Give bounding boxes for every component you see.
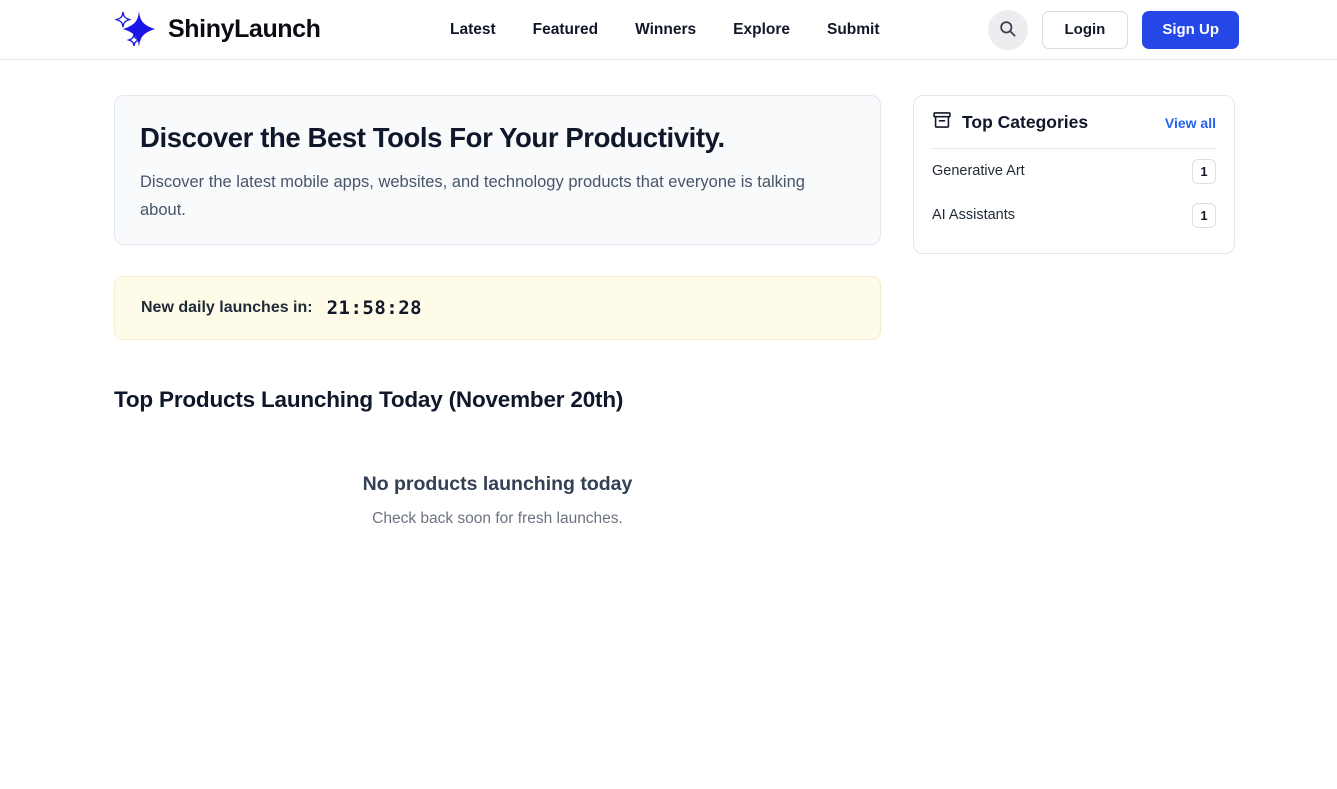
page-body: Discover the Best Tools For Your Product… xyxy=(0,60,1337,789)
site-header: ShinyLaunch Latest Featured Winners Expl… xyxy=(0,0,1337,60)
hero-subtitle: Discover the latest mobile apps, website… xyxy=(140,168,830,224)
category-count-badge: 1 xyxy=(1192,203,1216,228)
nav-item-latest[interactable]: Latest xyxy=(450,21,496,39)
search-icon xyxy=(998,19,1017,41)
top-categories-title: Top Categories xyxy=(962,112,1088,133)
hero-banner: Discover the Best Tools For Your Product… xyxy=(114,95,881,245)
empty-state-title: No products launching today xyxy=(114,473,881,496)
nav-item-explore[interactable]: Explore xyxy=(733,21,790,39)
section-title-top-products: Top Products Launching Today (November 2… xyxy=(114,387,881,413)
empty-state: No products launching today Check back s… xyxy=(114,473,881,528)
top-categories-header: Top Categories View all xyxy=(932,110,1216,149)
main-column: Discover the Best Tools For Your Product… xyxy=(114,95,881,528)
brand-logo-link[interactable]: ShinyLaunch xyxy=(114,8,321,52)
header-actions: Login Sign Up xyxy=(988,10,1240,50)
view-all-categories-link[interactable]: View all xyxy=(1165,115,1216,131)
login-button[interactable]: Login xyxy=(1042,11,1129,49)
top-categories-title-group: Top Categories xyxy=(932,110,1088,135)
category-name: Generative Art xyxy=(932,163,1025,179)
category-row-ai-assistants[interactable]: AI Assistants 1 xyxy=(932,193,1216,237)
archive-box-icon xyxy=(932,110,952,135)
signup-button[interactable]: Sign Up xyxy=(1142,11,1239,49)
category-row-generative-art[interactable]: Generative Art 1 xyxy=(932,149,1216,193)
hero-title: Discover the Best Tools For Your Product… xyxy=(140,121,855,155)
empty-state-subtitle: Check back soon for fresh launches. xyxy=(114,510,881,528)
search-button[interactable] xyxy=(988,10,1028,50)
countdown-label: New daily launches in: xyxy=(141,299,313,317)
sidebar-column: Top Categories View all Generative Art 1… xyxy=(913,95,1235,254)
nav-item-submit[interactable]: Submit xyxy=(827,21,880,39)
sparkle-star-icon xyxy=(114,8,160,52)
category-name: AI Assistants xyxy=(932,207,1015,223)
brand-name: ShinyLaunch xyxy=(168,15,321,44)
nav-item-featured[interactable]: Featured xyxy=(533,21,598,39)
countdown-banner: New daily launches in: 21:58:28 xyxy=(114,276,881,340)
main-navigation: Latest Featured Winners Explore Submit xyxy=(450,21,880,39)
category-count-badge: 1 xyxy=(1192,159,1216,184)
nav-item-winners[interactable]: Winners xyxy=(635,21,696,39)
countdown-timer: 21:58:28 xyxy=(327,297,423,319)
top-categories-card: Top Categories View all Generative Art 1… xyxy=(913,95,1235,254)
